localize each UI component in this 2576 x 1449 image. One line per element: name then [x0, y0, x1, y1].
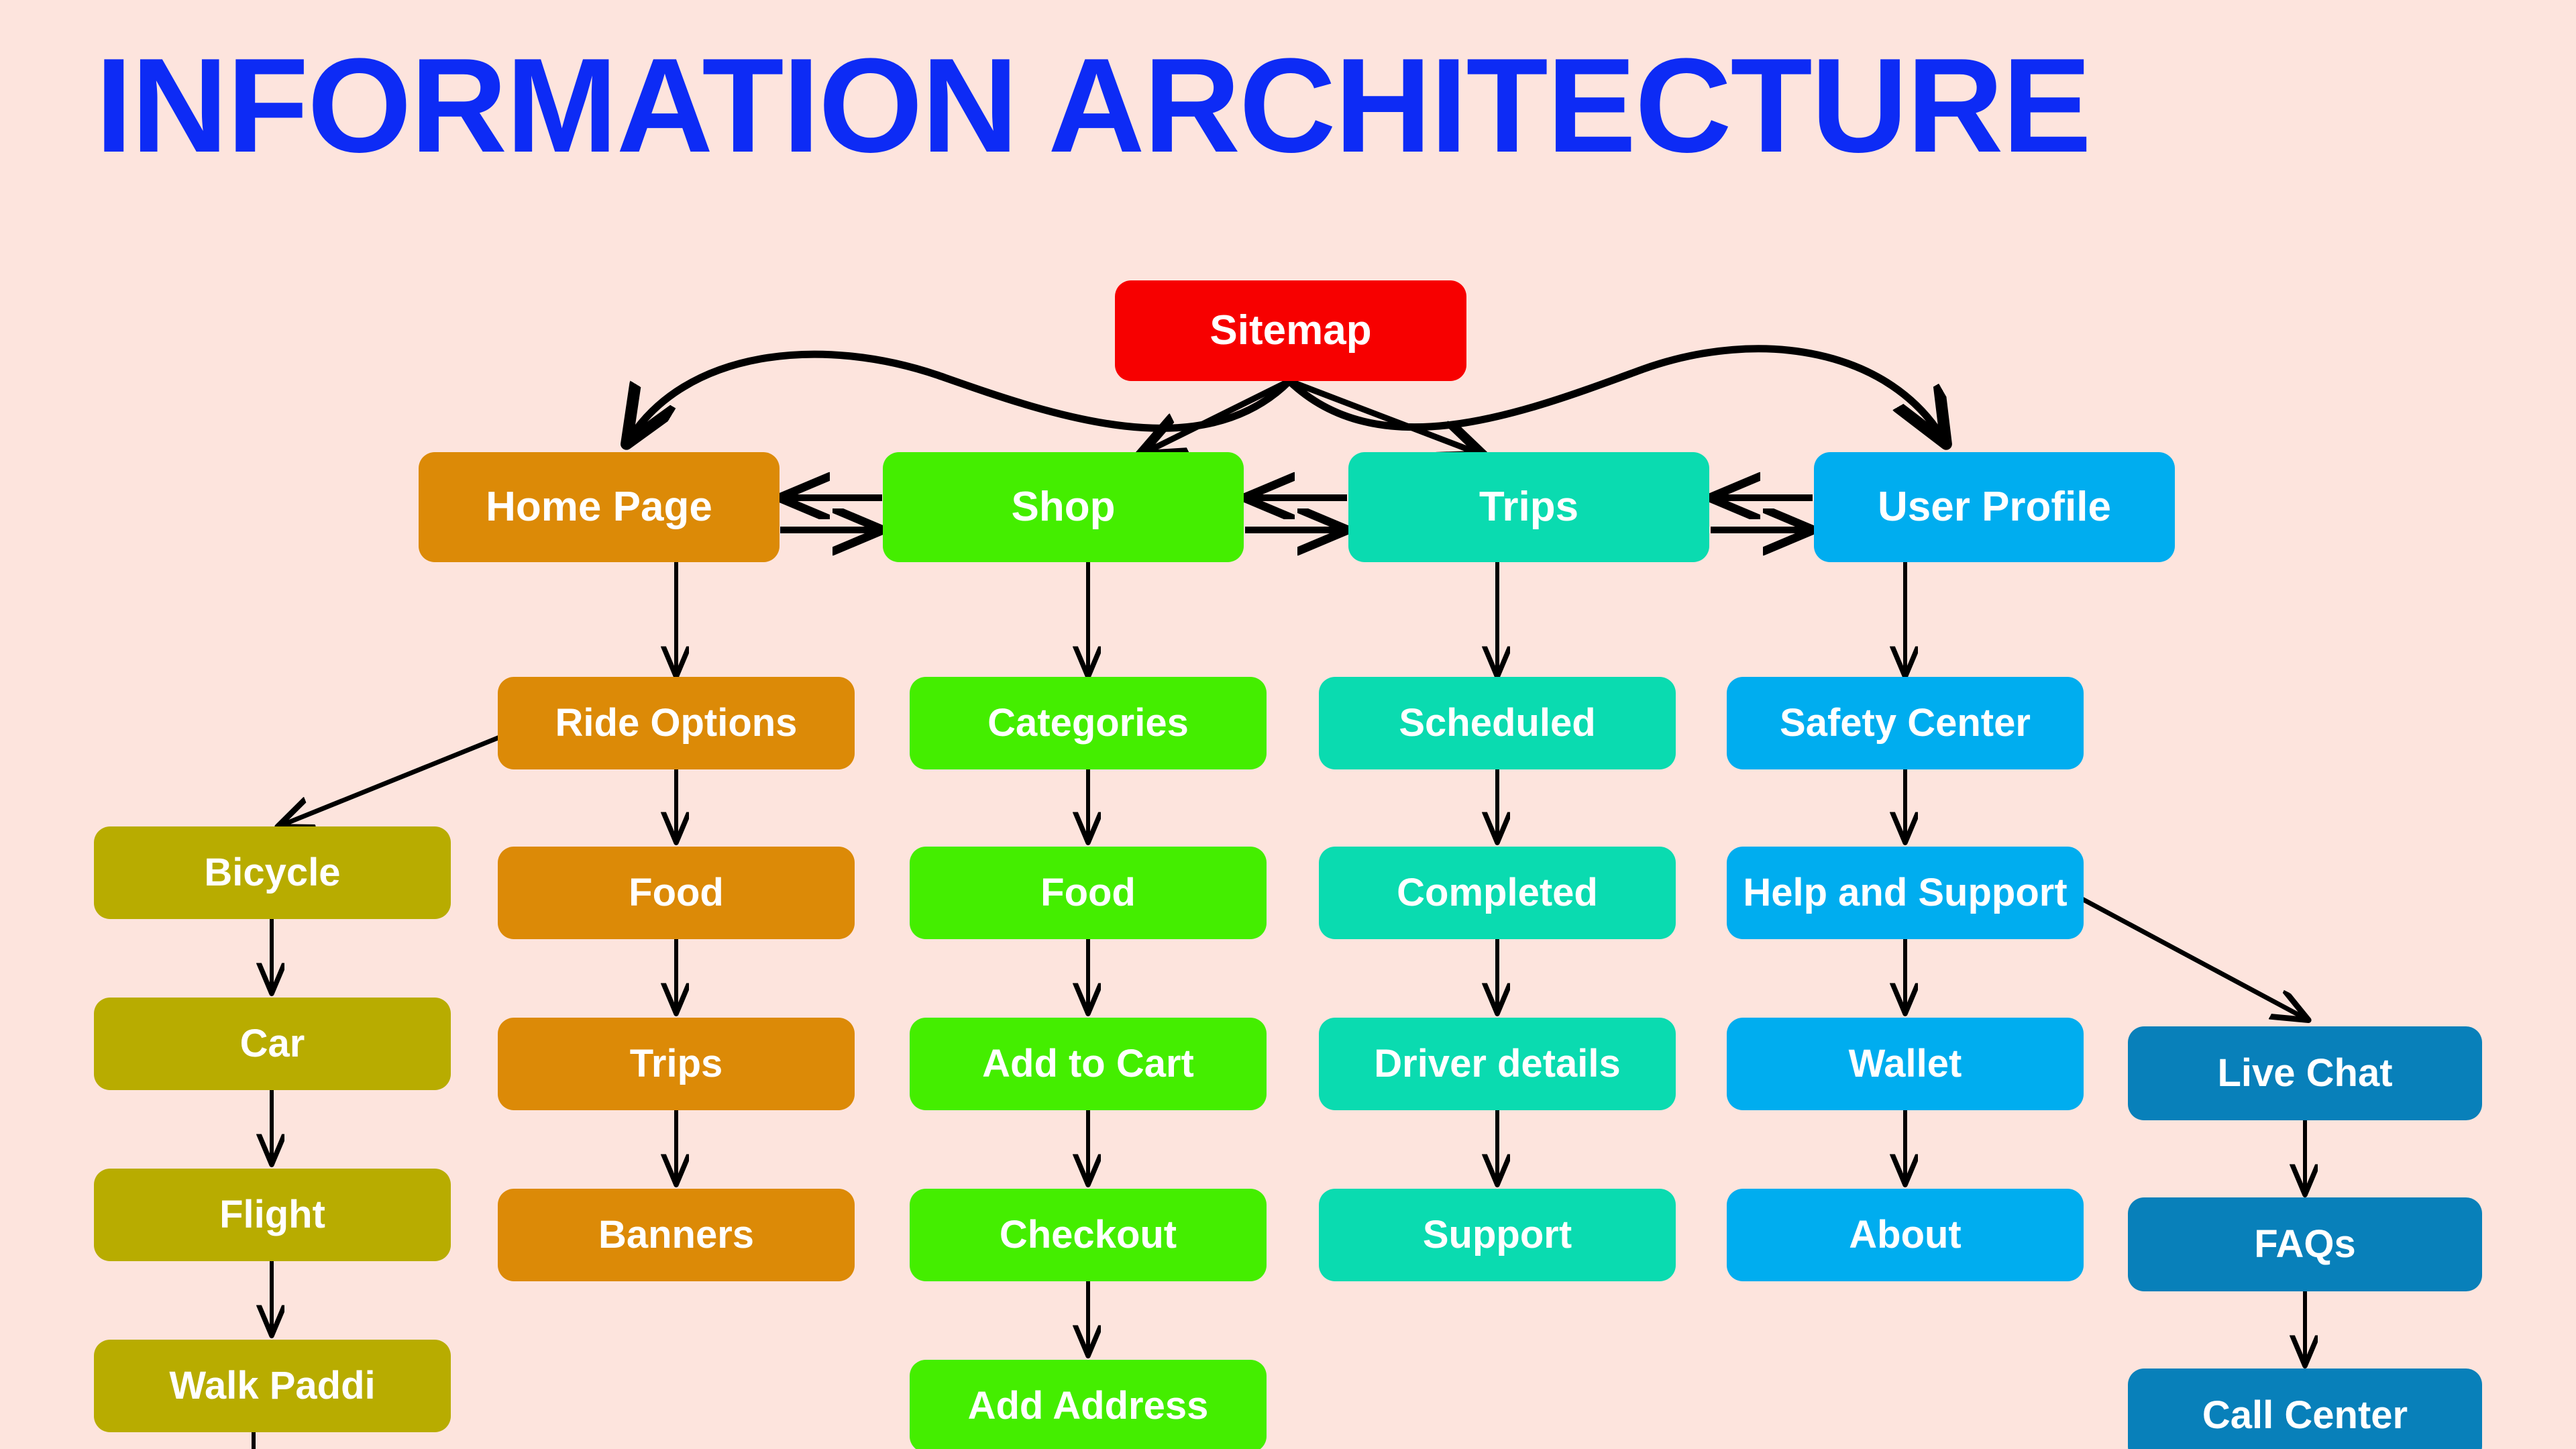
node-label: Checkout [1000, 1215, 1177, 1255]
node-label: Sitemap [1210, 309, 1371, 352]
node-add-address[interactable]: Add Address [910, 1360, 1267, 1449]
node-car[interactable]: Car [94, 998, 451, 1090]
node-shop-food[interactable]: Food [910, 847, 1267, 939]
node-label: Categories [987, 703, 1189, 743]
node-label: Completed [1397, 873, 1598, 913]
node-call-center[interactable]: Call Center [2128, 1368, 2482, 1449]
node-label: Trips [630, 1044, 723, 1084]
node-about[interactable]: About [1727, 1189, 2084, 1281]
node-label: Add to Cart [982, 1044, 1194, 1084]
node-label: Live Chat [2217, 1053, 2392, 1093]
node-label: Bicycle [204, 853, 340, 893]
node-label: FAQs [2254, 1224, 2356, 1265]
node-label: Scheduled [1399, 703, 1595, 743]
node-checkout[interactable]: Checkout [910, 1189, 1267, 1281]
node-help-and-support[interactable]: Help and Support [1727, 847, 2084, 939]
node-label: Call Center [2202, 1395, 2408, 1436]
node-label: Banners [598, 1215, 754, 1255]
node-label: Support [1423, 1215, 1572, 1255]
node-completed[interactable]: Completed [1319, 847, 1676, 939]
node-scheduled[interactable]: Scheduled [1319, 677, 1676, 769]
node-driver-details[interactable]: Driver details [1319, 1018, 1676, 1110]
node-label: Food [1040, 873, 1136, 913]
node-label: Help and Support [1743, 873, 2067, 912]
node-faqs[interactable]: FAQs [2128, 1197, 2482, 1291]
node-shop[interactable]: Shop [883, 452, 1244, 562]
edge-sitemap-trips [1289, 381, 1483, 455]
node-live-chat[interactable]: Live Chat [2128, 1026, 2482, 1120]
node-user-profile[interactable]: User Profile [1814, 452, 2175, 562]
node-label: Add Address [968, 1386, 1209, 1426]
node-label: User Profile [1878, 486, 2111, 529]
node-trips[interactable]: Trips [1348, 452, 1709, 562]
edge-rideoptions-bicycle [278, 735, 504, 826]
node-label: Walk Paddi [169, 1366, 375, 1406]
node-banners[interactable]: Banners [498, 1189, 855, 1281]
node-label: Driver details [1374, 1044, 1621, 1084]
node-categories[interactable]: Categories [910, 677, 1267, 769]
node-home-food[interactable]: Food [498, 847, 855, 939]
page-title: INFORMATION ARCHITECTURE [95, 39, 2090, 173]
node-label: Trips [1479, 486, 1578, 529]
node-wallet[interactable]: Wallet [1727, 1018, 2084, 1110]
node-label: About [1849, 1215, 1962, 1255]
node-walk-paddi[interactable]: Walk Paddi [94, 1340, 451, 1432]
diagram-canvas: INFORMATION ARCHITECTURE [0, 0, 2576, 1449]
node-label: Ride Options [555, 703, 798, 743]
node-ride-options[interactable]: Ride Options [498, 677, 855, 769]
node-label: Home Page [486, 486, 712, 529]
node-label: Flight [219, 1195, 325, 1235]
node-sitemap[interactable]: Sitemap [1115, 280, 1466, 381]
node-safety-center[interactable]: Safety Center [1727, 677, 2084, 769]
node-add-to-cart[interactable]: Add to Cart [910, 1018, 1267, 1110]
node-label: Safety Center [1780, 703, 2031, 743]
edge-helpsupport-livechat [2080, 898, 2308, 1020]
edge-sitemap-shop [1140, 381, 1289, 455]
node-home-trips[interactable]: Trips [498, 1018, 855, 1110]
node-trips-support[interactable]: Support [1319, 1189, 1676, 1281]
node-bicycle[interactable]: Bicycle [94, 826, 451, 919]
node-flight[interactable]: Flight [94, 1169, 451, 1261]
node-label: Shop [1012, 486, 1116, 529]
node-label: Car [240, 1024, 305, 1064]
node-label: Food [629, 873, 724, 913]
node-home-page[interactable]: Home Page [419, 452, 780, 562]
node-label: Wallet [1849, 1044, 1962, 1084]
